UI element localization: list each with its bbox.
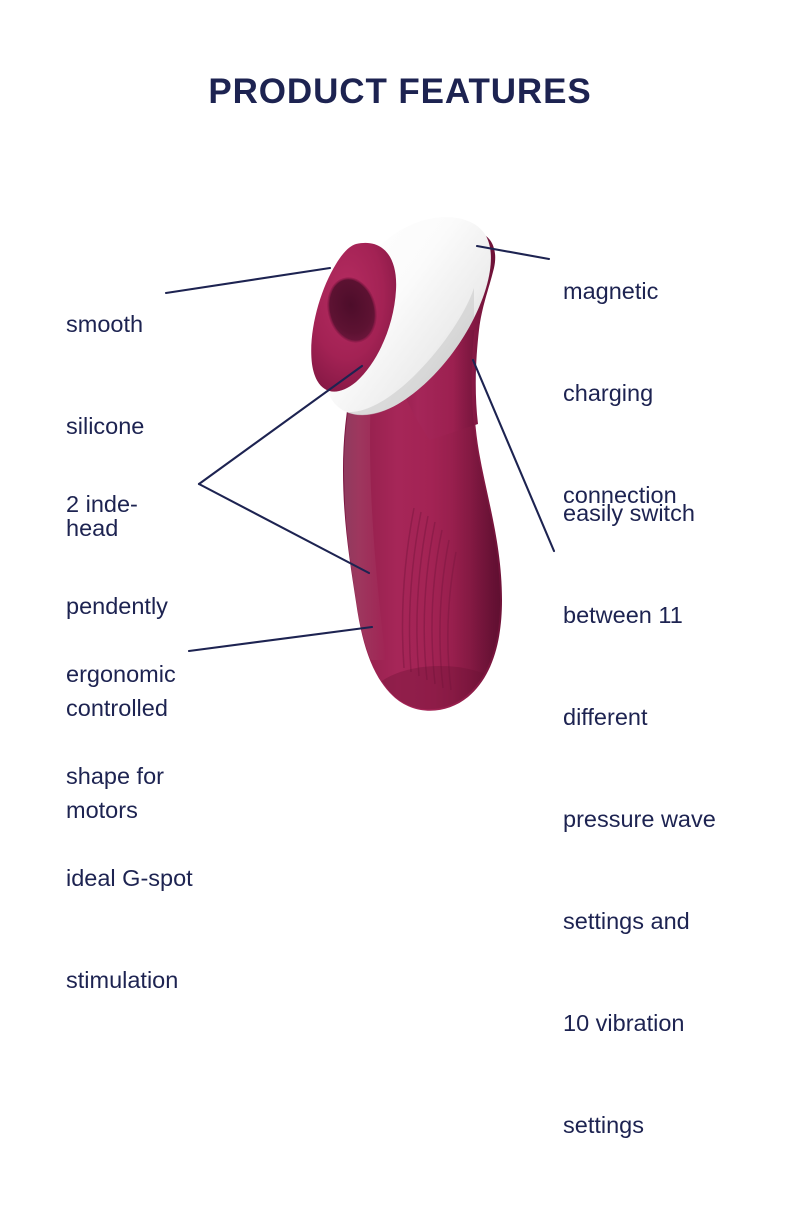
callout-pressure-settings: easily switch between 11 different press… <box>563 428 716 1210</box>
callout-line: charging <box>563 376 677 410</box>
product-features-diagram: PRODUCT FEATURES <box>0 0 800 800</box>
callout-line: ideal G-spot <box>66 861 193 895</box>
callout-ergonomic-shape: ergonomic shape for ideal G-spot stimula… <box>66 589 193 1065</box>
callout-line: 2 inde- <box>66 487 168 521</box>
callout-line: pressure wave <box>563 802 716 836</box>
callout-line: stimulation <box>66 963 193 997</box>
callout-line: different <box>563 700 716 734</box>
callout-line: 10 vibration <box>563 1006 716 1040</box>
callout-line: easily switch <box>563 496 716 530</box>
callout-line: shape for <box>66 759 193 793</box>
callout-line: settings and <box>563 904 716 938</box>
callout-line: magnetic <box>563 274 677 308</box>
callout-line: smooth <box>66 307 144 341</box>
callout-line: settings <box>563 1108 716 1142</box>
callout-line: ergonomic <box>66 657 193 691</box>
callout-line: between 11 <box>563 598 716 632</box>
